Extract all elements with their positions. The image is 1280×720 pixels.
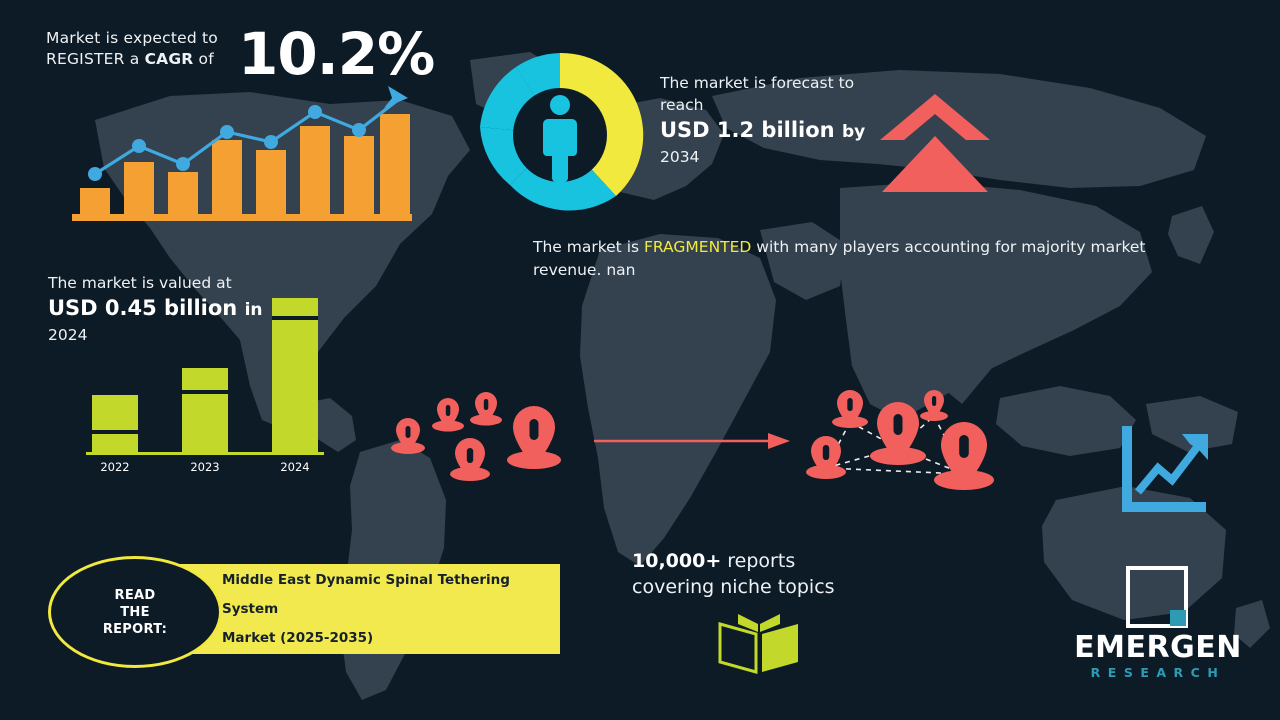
brand-name: EMERGEN <box>1060 632 1256 664</box>
reports-count-label: reports <box>721 550 795 572</box>
reports-count: 10,000+ <box>632 550 721 572</box>
brand-tagline: RESEARCH <box>1060 666 1256 680</box>
forecast-block: The market is forecast to reach USD 1.2 … <box>660 72 890 168</box>
cagr-block: Market is expected to REGISTER a CAGR of… <box>46 24 466 84</box>
growth-chart-icon <box>72 78 412 223</box>
read-report-badge[interactable]: READ THE REPORT: <box>48 556 222 668</box>
fragmented-highlight: FRAGMENTED <box>644 238 751 256</box>
line-growth-icon <box>1116 424 1212 516</box>
cagr-lead-line2-pre: REGISTER a <box>46 50 145 68</box>
forecast-value: USD 1.2 billion <box>660 118 835 142</box>
report-title-line1: Middle East Dynamic Spinal Tethering Sys… <box>222 566 560 624</box>
forecast-line1: The market is forecast to <box>660 72 890 94</box>
read-report-badge-label: READ THE REPORT: <box>103 587 167 638</box>
read-report-banner[interactable]: Middle East Dynamic Spinal Tethering Sys… <box>48 556 560 662</box>
bar-2024 <box>272 298 318 452</box>
open-book-icon <box>716 612 802 674</box>
bar-label-2024: 2024 <box>280 460 309 472</box>
fragmented-statement: The market is FRAGMENTED with many playe… <box>533 236 1209 282</box>
infographic-canvas: Market is expected to REGISTER a CAGR of… <box>0 0 1280 720</box>
map-pins-scattered-icon <box>378 388 578 500</box>
reports-count-block: 10,000+ reports covering niche topics <box>632 548 892 600</box>
badge-line1: READ <box>115 588 156 603</box>
forecast-line2: reach <box>660 94 890 116</box>
cagr-value: 10.2% <box>238 24 434 84</box>
double-chevron-up-icon <box>878 92 992 194</box>
cagr-lead-text: Market is expected to REGISTER a CAGR of <box>46 24 234 70</box>
forecast-year: 2034 <box>660 146 890 168</box>
report-title-line2: Market (2025-2035) <box>222 624 560 653</box>
cagr-lead-line2-post: of <box>193 50 213 68</box>
bar-2023 <box>182 368 228 452</box>
bar-2022 <box>92 395 138 452</box>
reports-line2: covering niche topics <box>632 574 892 600</box>
bar-label-2022: 2022 <box>100 460 129 472</box>
badge-line3: REPORT: <box>103 622 167 637</box>
brand-logo: EMERGEN RESEARCH <box>1060 566 1256 692</box>
right-arrow-icon <box>592 428 792 454</box>
forecast-value-suffix: by <box>842 122 865 142</box>
map-pins-network-icon <box>798 382 1012 508</box>
cagr-lead-bold: CAGR <box>145 50 194 68</box>
donut-chart-icon <box>470 45 650 225</box>
emergen-logo-mark-icon <box>1126 566 1188 628</box>
fragmented-pre: The market is <box>533 238 644 256</box>
cagr-lead-line1: Market is expected to <box>46 29 218 47</box>
revenue-bar-chart: 2022 2023 2024 <box>78 290 328 472</box>
bar-label-2023: 2023 <box>190 460 219 472</box>
badge-line2: THE <box>120 605 150 620</box>
